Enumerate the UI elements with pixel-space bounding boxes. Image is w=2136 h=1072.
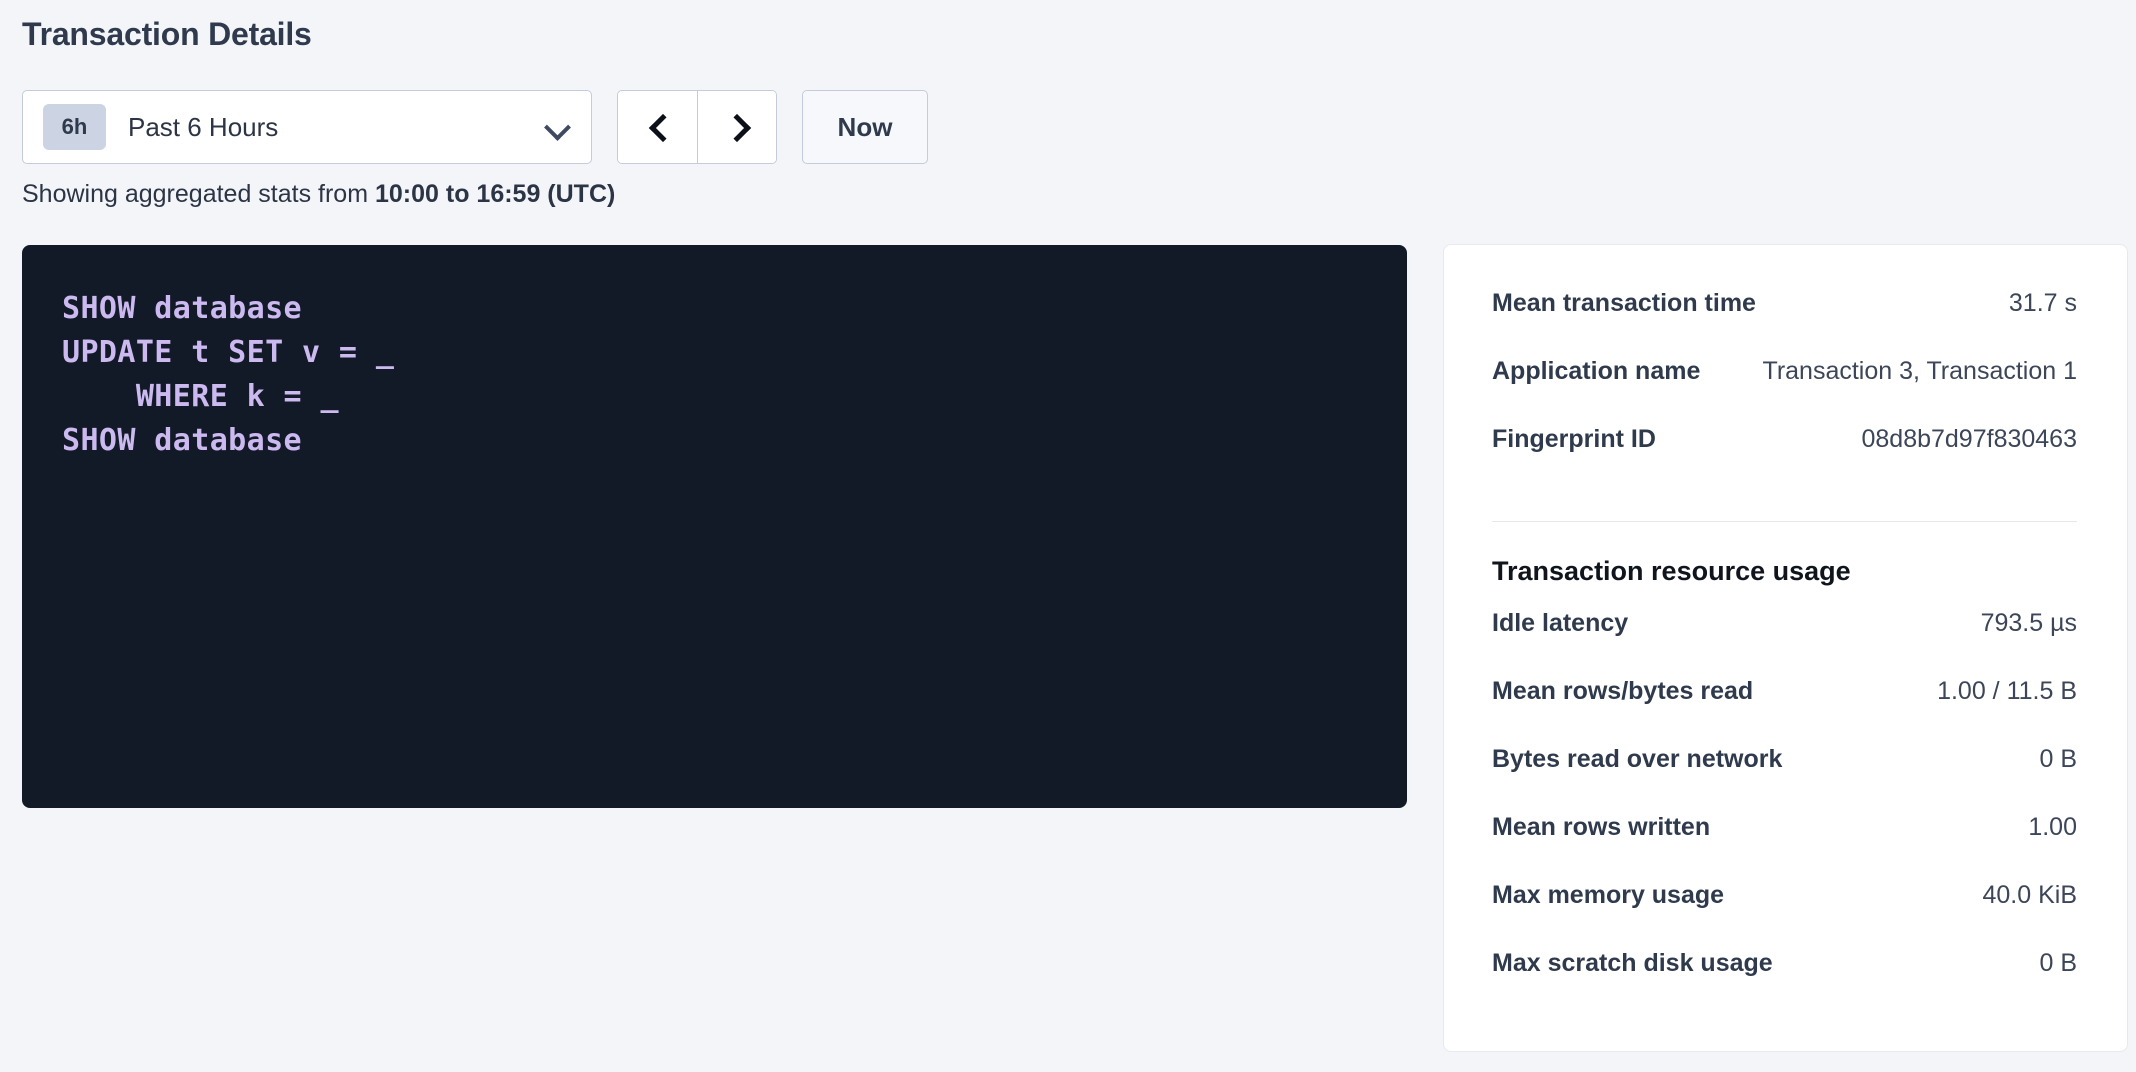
stat-value: 31.7 s [2009,289,2077,318]
stat-label: Mean rows/bytes read [1492,677,1753,706]
time-range-badge: 6h [43,104,106,150]
stat-value: 0 B [2039,949,2077,978]
time-range-select[interactable]: 6h Past 6 Hours [22,90,592,164]
stat-row: Idle latency 793.5 µs [1492,609,2077,677]
chevron-down-icon [545,115,569,139]
stat-row: Mean rows written 1.00 [1492,813,2077,881]
subtitle-range: 10:00 to 16:59 (UTC) [375,180,615,208]
stat-row: Bytes read over network 0 B [1492,745,2077,813]
transaction-details-page: Transaction Details 6h Past 6 Hours Now … [0,0,2136,1072]
chevron-left-icon [647,116,669,138]
now-button[interactable]: Now [802,90,928,164]
stat-value: 40.0 KiB [1982,881,2077,910]
stat-label: Mean rows written [1492,813,1710,842]
chevron-right-icon [726,116,748,138]
aggregated-stats-subtitle: Showing aggregated stats from 10:00 to 1… [22,180,615,209]
time-nav-group [617,90,777,164]
stat-row: Max scratch disk usage 0 B [1492,949,2077,1017]
stat-label: Mean transaction time [1492,289,1756,318]
sql-statement-text: SHOW database UPDATE t SET v = _ WHERE k… [62,287,1407,463]
transaction-stats-card: Mean transaction time 31.7 s Application… [1443,244,2128,1052]
stat-value: 1.00 [2028,813,2077,842]
stat-label: Idle latency [1492,609,1628,638]
stat-row: Mean rows/bytes read 1.00 / 11.5 B [1492,677,2077,745]
stat-label: Application name [1492,357,1700,386]
stat-value: 793.5 µs [1981,609,2077,638]
subtitle-prefix: Showing aggregated stats from [22,180,375,208]
stat-row: Fingerprint ID 08d8b7d97f830463 [1492,425,2077,493]
section-divider [1492,521,2077,522]
stat-row: Mean transaction time 31.7 s [1492,289,2077,357]
resource-stats-list: Idle latency 793.5 µs Mean rows/bytes re… [1492,609,2077,1017]
stat-value: 1.00 / 11.5 B [1937,677,2077,706]
stat-row: Application name Transaction 3, Transact… [1492,357,2077,425]
next-period-button[interactable] [697,91,776,163]
stat-row: Max memory usage 40.0 KiB [1492,881,2077,949]
time-range-label: Past 6 Hours [128,112,545,143]
time-range-toolbar: 6h Past 6 Hours Now [22,90,928,164]
stat-value: 08d8b7d97f830463 [1861,425,2077,454]
stat-label: Fingerprint ID [1492,425,1656,454]
resource-usage-title: Transaction resource usage [1492,556,2077,587]
previous-period-button[interactable] [618,91,697,163]
stat-value: 0 B [2039,745,2077,774]
stat-label: Max scratch disk usage [1492,949,1773,978]
stat-label: Max memory usage [1492,881,1724,910]
stat-value: Transaction 3, Transaction 1 [1762,357,2077,386]
summary-stats-list: Mean transaction time 31.7 s Application… [1492,289,2077,493]
page-title: Transaction Details [22,16,312,53]
sql-statement-panel: SHOW database UPDATE t SET v = _ WHERE k… [22,245,1407,808]
stat-label: Bytes read over network [1492,745,1782,774]
